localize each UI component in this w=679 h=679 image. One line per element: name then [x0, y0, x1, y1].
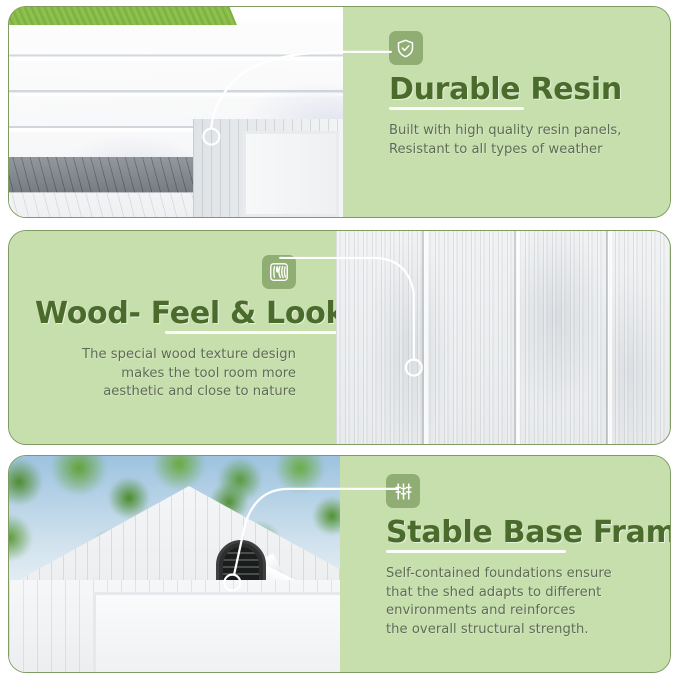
feature-title-stable-base-frame: Stable Base Frame — [386, 516, 670, 549]
feature-row-stable-base-frame: Stable Base Frame Self-contained foundat… — [8, 455, 671, 673]
description-line: aesthetic and close to nature — [35, 383, 296, 402]
description-line: environments and reinforces — [386, 602, 644, 621]
feature-panel-durable-resin: Durable Resin Built with high quality re… — [343, 7, 670, 217]
feature-panel-stable-base-frame: Stable Base Frame Self-contained foundat… — [340, 456, 670, 672]
wood-texture-photo — [336, 231, 670, 444]
sliders-icon — [386, 474, 420, 508]
feature-row-wood-feel-and-look: Wood- Feel & Look The special wood textu… — [8, 230, 671, 445]
feature-board: Durable Resin Built with high quality re… — [0, 0, 679, 679]
feature-description-stable-base-frame: Self-contained foundations ensure that t… — [386, 565, 644, 640]
description-line: makes the tool room more — [35, 365, 296, 384]
feature-row-durable-resin: Durable Resin Built with high quality re… — [8, 6, 671, 218]
description-line: Self-contained foundations ensure — [386, 565, 644, 584]
description-line: that the shed adapts to different — [386, 584, 644, 603]
shed-gable-photo — [9, 456, 340, 672]
shield-check-icon — [389, 31, 423, 65]
description-line: Resistant to all types of weather — [389, 141, 644, 160]
feature-description-durable-resin: Built with high quality resin panels, Re… — [389, 122, 644, 159]
feature-title-wood-feel-and-look: Wood- Feel & Look — [35, 297, 336, 330]
feature-title-durable-resin: Durable Resin — [389, 73, 622, 106]
shed-door-frame — [93, 592, 340, 672]
feature-description-wood-feel-and-look: The special wood texture design makes th… — [35, 346, 296, 402]
wood-grain-icon — [262, 255, 296, 289]
shed-door-frame — [243, 131, 339, 217]
feature-panel-wood-feel-and-look: Wood- Feel & Look The special wood textu… — [9, 231, 336, 444]
resin-roof-photo — [9, 7, 343, 217]
description-line: The special wood texture design — [35, 346, 296, 365]
description-line: the overall structural strength. — [386, 621, 644, 640]
description-line: Built with high quality resin panels, — [389, 122, 644, 141]
